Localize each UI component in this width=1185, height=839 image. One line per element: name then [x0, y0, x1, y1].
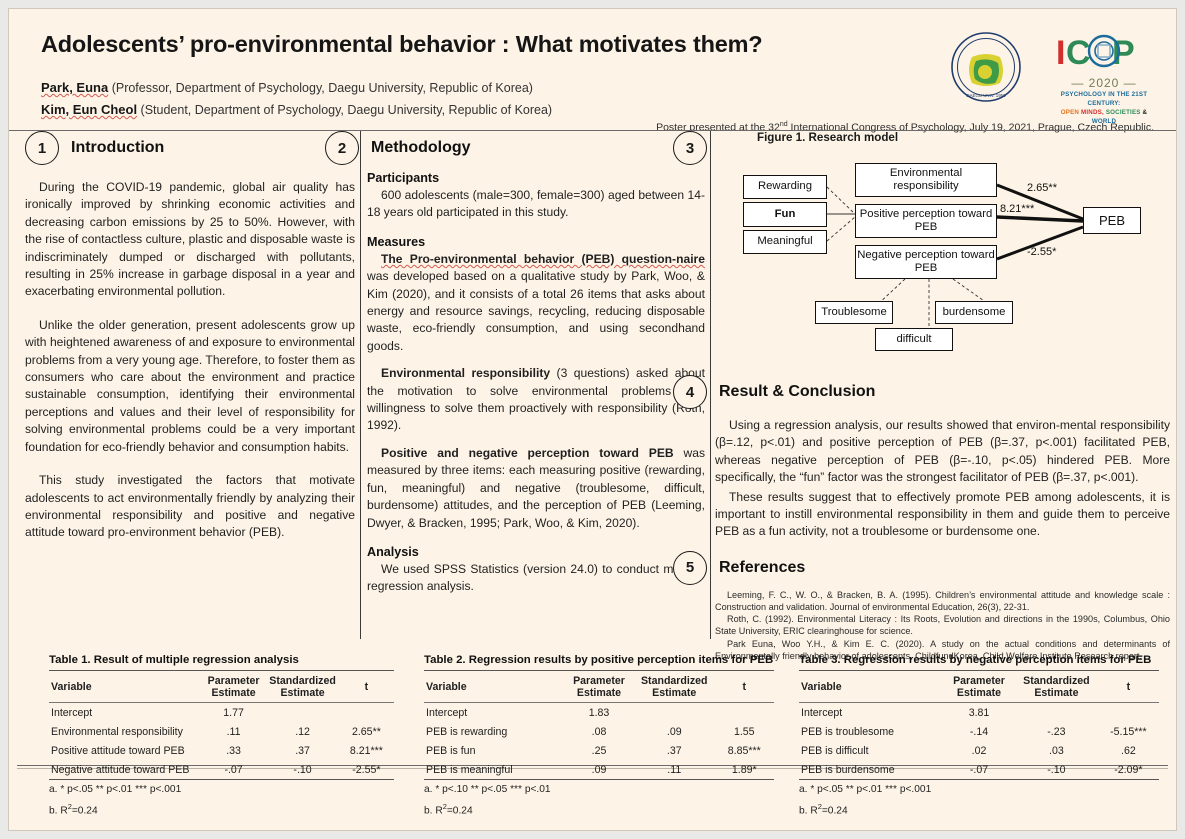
section-introduction: 1 Introduction During the COVID-19 pande…: [25, 131, 355, 542]
measure-env-responsibility: Environmental responsibility (3 question…: [367, 365, 705, 435]
table-row: Intercept3.81: [799, 703, 1159, 723]
svg-text:I: I: [1056, 34, 1065, 72]
poster-body: 1 Introduction During the COVID-19 pande…: [9, 131, 1176, 643]
note-b-post: =0.24: [72, 805, 98, 816]
col-parameter-estimate: Parameter Estimate: [943, 671, 1015, 703]
section-title: References: [719, 559, 805, 577]
cell-standardized: .03: [1015, 741, 1098, 760]
author-affiliation: (Student, Department of Psychology, Daeg…: [141, 103, 553, 117]
table-note-a: a. * p<.05 ** p<.01 *** p<.001: [799, 783, 1159, 797]
cell-parameter: .08: [564, 722, 634, 741]
table-row: Negative attitude toward PEB-.07-.10-2.5…: [49, 760, 394, 780]
table-header-row: Variable Parameter Estimate Standardized…: [49, 671, 394, 703]
col-variable: Variable: [424, 671, 564, 703]
intro-paragraph-1: During the COVID-19 pandemic, global air…: [25, 179, 355, 301]
table-note-b: b. R2=0.24: [49, 800, 394, 818]
author-name: Park, Euna: [41, 80, 108, 95]
node-positive-perception: Positive perception toward PEB: [855, 204, 997, 238]
node-negative-perception: Negative perception toward PEB: [855, 245, 997, 279]
col-parameter-estimate: Parameter Estimate: [564, 671, 634, 703]
col-t: t: [1098, 671, 1159, 703]
references-heading: 5 References: [673, 551, 1170, 585]
cell-standardized: .11: [634, 760, 715, 780]
regression-table: Variable Parameter Estimate Standardized…: [424, 670, 774, 780]
table-header: Variable Parameter Estimate Standardized…: [799, 671, 1159, 703]
section-number-badge: 4: [673, 375, 707, 409]
col-standardized-estimate: Standardized Estimate: [634, 671, 715, 703]
author-line: Park, Euna (Professor, Department of Psy…: [41, 77, 552, 99]
result-paragraph-2: These results suggest that to effectivel…: [715, 489, 1170, 541]
author-affiliation: (Professor, Department of Psychology, Da…: [112, 81, 533, 95]
section-number-badge: 2: [325, 131, 359, 165]
cell-parameter: .09: [564, 760, 634, 780]
cell-parameter: 1.83: [564, 703, 634, 723]
cell-parameter: -.14: [943, 722, 1015, 741]
section-number-badge: 1: [25, 131, 59, 165]
result-heading: 4 Result & Conclusion: [673, 375, 1170, 409]
cell-variable: Intercept: [424, 703, 564, 723]
table-header-row: Variable Parameter Estimate Standardized…: [799, 671, 1159, 703]
participants-heading: Participants: [367, 171, 705, 185]
cell-t: -5.15***: [1098, 722, 1159, 741]
cell-variable: Negative attitude toward PEB: [49, 760, 201, 780]
tables-row: Table 1. Result of multiple regression a…: [9, 654, 1176, 831]
cell-t: 2.65**: [339, 722, 394, 741]
cell-t: .62: [1098, 741, 1159, 760]
result-paragraph-1: Using a regression analysis, our results…: [715, 417, 1170, 487]
svg-text:DAEGU UNIV. 1956: DAEGU UNIV. 1956: [966, 93, 1006, 98]
cell-standardized: .37: [266, 741, 338, 760]
note-b-pre: b. R: [424, 805, 443, 816]
analysis-heading: Analysis: [367, 545, 705, 559]
table-row: Intercept1.83: [424, 703, 774, 723]
cell-parameter: 1.77: [201, 703, 267, 723]
table-body: Intercept1.83 PEB is rewarding.08.091.55…: [424, 703, 774, 780]
icp-tagline-amp: &: [1143, 109, 1148, 116]
cell-t: -2.55*: [339, 760, 394, 780]
table-1-block: Table 1. Result of multiple regression a…: [49, 654, 394, 818]
coefficient-negative-to-peb: -2.55*: [1027, 246, 1056, 258]
table-body: Intercept1.77 Environmental responsibili…: [49, 703, 394, 780]
table-header: Variable Parameter Estimate Standardized…: [424, 671, 774, 703]
cell-parameter: .25: [564, 741, 634, 760]
table-header-row: Variable Parameter Estimate Standardized…: [424, 671, 774, 703]
cell-variable: Intercept: [799, 703, 943, 723]
page-title: Adolescents’ pro-environmental behavior …: [41, 31, 762, 58]
poster-header: Adolescents’ pro-environmental behavior …: [9, 9, 1176, 130]
regression-table: Variable Parameter Estimate Standardized…: [799, 670, 1159, 780]
col-standardized-estimate: Standardized Estimate: [1015, 671, 1098, 703]
note-b-pre: b. R: [49, 805, 68, 816]
icp-tagline-minds: MINDS,: [1081, 109, 1104, 116]
introduction-heading: 1 Introduction: [25, 131, 355, 165]
table-row: Positive attitude toward PEB.33.378.21**…: [49, 741, 394, 760]
node-troublesome: Troublesome: [815, 301, 893, 324]
table-row: PEB is burdensome-.07-.10-2.09*: [799, 760, 1159, 780]
reference-list: Leeming, F. C., W. O., & Bracken, B. A. …: [715, 589, 1170, 662]
svg-text:C: C: [1066, 34, 1091, 72]
col-variable: Variable: [49, 671, 201, 703]
intro-paragraph-3: This study investigated the factors that…: [25, 472, 355, 542]
cell-standardized: -.10: [1015, 760, 1098, 780]
measures-heading: Measures: [367, 235, 705, 249]
cell-parameter: -.07: [201, 760, 267, 780]
measure-peb-questionnaire: The Pro-environmental behavior (PEB) que…: [367, 251, 705, 355]
measure-perception: Positive and negative perception toward …: [367, 445, 705, 532]
section-number-badge: 5: [673, 551, 707, 585]
cell-parameter: 3.81: [943, 703, 1015, 723]
table-row: PEB is difficult.02.03.62: [799, 741, 1159, 760]
section-title: Methodology: [371, 139, 471, 157]
cell-t: -2.09*: [1098, 760, 1159, 780]
cell-standardized: [1015, 703, 1098, 723]
table-note-a: a. * p<.10 ** p<.05 *** p<.01: [424, 783, 774, 797]
cell-variable: Positive attitude toward PEB: [49, 741, 201, 760]
research-model-diagram: Rewarding Fun Meaningful Environmental r…: [715, 151, 1167, 369]
cell-standardized: -.10: [266, 760, 338, 780]
author-name: Kim, Eun Cheol: [41, 102, 137, 117]
cell-variable: PEB is difficult: [799, 741, 943, 760]
icp-tagline-societies: SOCIETIES: [1106, 109, 1141, 116]
icp-tagline-open: OPEN: [1061, 109, 1079, 116]
section-methodology: 2 Methodology Participants 600 adolescen…: [367, 131, 705, 596]
analysis-text: We used SPSS Statistics (version 24.0) t…: [367, 561, 705, 596]
table-2-block: Table 2. Regression results by positive …: [424, 654, 774, 818]
coefficient-positive-to-peb: 8.21***: [1000, 203, 1034, 215]
table-note-b: b. R2=0.24: [424, 800, 774, 818]
col-t: t: [339, 671, 394, 703]
icp-year-label: — 2020 —: [1050, 76, 1158, 90]
cell-variable: PEB is rewarding: [424, 722, 564, 741]
cell-parameter: .11: [201, 722, 267, 741]
node-difficult: difficult: [875, 328, 953, 351]
cell-variable: PEB is fun: [424, 741, 564, 760]
cell-variable: PEB is burdensome: [799, 760, 943, 780]
cell-variable: PEB is troublesome: [799, 722, 943, 741]
node-peb: PEB: [1083, 207, 1141, 234]
presented-ordinal-suffix: nd: [780, 121, 788, 128]
coefficient-env-resp-to-peb: 2.65**: [1027, 182, 1057, 194]
author-block: Park, Euna (Professor, Department of Psy…: [41, 77, 552, 121]
measure-env-label: Environmental responsibility: [381, 366, 550, 380]
cell-standardized: .37: [634, 741, 715, 760]
cell-variable: Intercept: [49, 703, 201, 723]
measure-peb-text: was developed based on a qualitative stu…: [367, 269, 705, 353]
note-b-pre: b. R: [799, 805, 818, 816]
section-title: Introduction: [71, 139, 164, 157]
table-row: Intercept1.77: [49, 703, 394, 723]
cell-variable: Environmental responsibility: [49, 722, 201, 741]
table-body: Intercept3.81 PEB is troublesome-.14-.23…: [799, 703, 1159, 780]
section-title: Result & Conclusion: [719, 383, 875, 401]
table-title: Table 1. Result of multiple regression a…: [49, 654, 394, 666]
section-number-badge: 3: [673, 131, 707, 165]
table-title: Table 3. Regression results by negative …: [799, 654, 1159, 666]
table-row: PEB is meaningful.09.111.89*: [424, 760, 774, 780]
col-variable: Variable: [799, 671, 943, 703]
node-fun: Fun: [743, 202, 827, 227]
cell-standardized: .12: [266, 722, 338, 741]
cell-variable: PEB is meaningful: [424, 760, 564, 780]
methodology-heading: 2 Methodology: [325, 131, 705, 165]
cell-t: [339, 703, 394, 723]
table-header: Variable Parameter Estimate Standardized…: [49, 671, 394, 703]
column-divider-1: [360, 131, 361, 639]
cell-t: [1098, 703, 1159, 723]
node-meaningful: Meaningful: [743, 230, 827, 254]
col-standardized-estimate: Standardized Estimate: [266, 671, 338, 703]
cell-standardized: [634, 703, 715, 723]
cell-t: 1.89*: [715, 760, 775, 780]
measure-perception-label: Positive and negative perception toward …: [381, 446, 674, 460]
icp-2020-logo-icon: I C P — 2020 — PSYCHOLOGY IN THE 21ST CE…: [1050, 31, 1158, 107]
note-b-post: =0.24: [822, 805, 848, 816]
cell-t: 8.21***: [339, 741, 394, 760]
cell-standardized: -.23: [1015, 722, 1098, 741]
col-t: t: [715, 671, 775, 703]
cell-parameter: .33: [201, 741, 267, 760]
cell-standardized: .09: [634, 722, 715, 741]
cell-parameter: .02: [943, 741, 1015, 760]
reference-item: Roth, C. (1992). Environmental Literacy …: [715, 613, 1170, 637]
daegu-university-logo-icon: DAEGU UNIV. 1956: [950, 31, 1022, 103]
table-row: PEB is fun.25.378.85***: [424, 741, 774, 760]
table-row: Environmental responsibility.11.122.65**: [49, 722, 394, 741]
table-row: PEB is troublesome-.14-.23-5.15***: [799, 722, 1159, 741]
note-b-post: =0.24: [447, 805, 473, 816]
reference-item: Leeming, F. C., W. O., & Bracken, B. A. …: [715, 589, 1170, 613]
poster-page: Adolescents’ pro-environmental behavior …: [8, 8, 1177, 831]
cell-parameter: -.07: [943, 760, 1015, 780]
regression-table: Variable Parameter Estimate Standardized…: [49, 670, 394, 780]
intro-paragraph-2: Unlike the older generation, present ado…: [25, 317, 355, 456]
cell-standardized: [266, 703, 338, 723]
logo-group: DAEGU UNIV. 1956 I C P — 2020 — PSYCHOLO…: [950, 31, 1158, 107]
author-line: Kim, Eun Cheol (Student, Department of P…: [41, 99, 552, 121]
table-3-block: Table 3. Regression results by negative …: [799, 654, 1159, 818]
cell-t: [715, 703, 775, 723]
table-note-b: b. R2=0.24: [799, 800, 1159, 818]
section-right-column: Figure 1. Research model 3: [715, 131, 1170, 662]
table-title: Table 2. Regression results by positive …: [424, 654, 774, 666]
node-rewarding: Rewarding: [743, 175, 827, 199]
node-burdensome: burdensome: [935, 301, 1013, 324]
icp-tagline-1: PSYCHOLOGY IN THE 21ST CENTURY:: [1050, 90, 1158, 108]
cell-t: 1.55: [715, 722, 775, 741]
table-row: PEB is rewarding.08.091.55: [424, 722, 774, 741]
col-parameter-estimate: Parameter Estimate: [201, 671, 267, 703]
cell-t: 8.85***: [715, 741, 775, 760]
measure-peb-label: The Pro-environmental behavior (PEB) que…: [381, 252, 705, 266]
participants-text: 600 adolescents (male=300, female=300) a…: [367, 187, 705, 222]
table-note-a: a. * p<.05 ** p<.01 *** p<.001: [49, 783, 394, 797]
node-environmental-responsibility: Environmental responsibility: [855, 163, 997, 197]
